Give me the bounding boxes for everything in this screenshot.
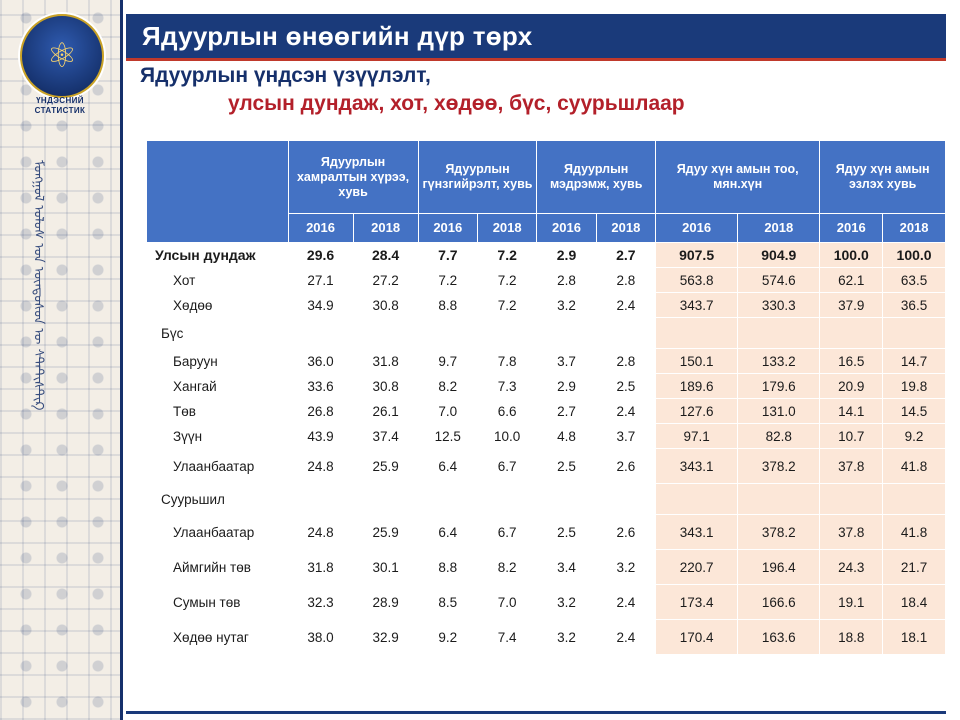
table-cell: 18.4 [883,585,946,620]
row-label: Төв [147,399,289,424]
poverty-table-wrap: Ядуурлын хамралтын хүрээ, хувь Ядуурлын … [146,140,946,655]
table-cell: 32.3 [288,585,353,620]
table-cell: 30.1 [353,550,418,585]
table-cell [537,318,596,349]
table-cell: 20.9 [820,374,883,399]
emblem-caption-line1: ҮНДЭСНИЙ [8,96,112,106]
table-cell: 131.0 [738,399,820,424]
table-cell [477,318,536,349]
table-cell: 37.9 [820,293,883,318]
table-cell: 7.0 [477,585,536,620]
table-cell: 32.9 [353,620,418,655]
table-cell: 19.8 [883,374,946,399]
year-share-2018: 2018 [883,214,946,243]
table-cell: 7.8 [477,349,536,374]
table-cell: 133.2 [738,349,820,374]
table-row: Хөдөө34.930.88.87.23.22.4343.7330.337.93… [147,293,946,318]
table-cell: 6.7 [477,449,536,484]
table-cell: 3.4 [537,550,596,585]
table-cell: 14.5 [883,399,946,424]
table-row: Сумын төв32.328.98.57.03.22.4173.4166.61… [147,585,946,620]
table-cell [656,318,738,349]
table-cell: 12.5 [418,424,477,449]
table-cell: 8.2 [418,374,477,399]
table-cell: 21.7 [883,550,946,585]
table-cell [596,484,655,515]
table-header-groups-row: Ядуурлын хамралтын хүрээ, хувь Ядуурлын … [147,141,946,214]
table-cell: 38.0 [288,620,353,655]
table-cell: 378.2 [738,515,820,550]
table-cell: 150.1 [656,349,738,374]
table-cell: 7.3 [477,374,536,399]
soyombo-icon: ⚛ [47,39,77,73]
emblem-caption: ҮНДЭСНИЙ СТАТИСТИК [8,96,112,116]
table-corner-header [147,141,289,243]
table-row: Улаанбаатар24.825.96.46.72.52.6343.1378.… [147,449,946,484]
row-label: Бүс [147,318,289,349]
table-cell: 170.4 [656,620,738,655]
column-group-poor-count: Ядуу хүн амын тоо, мян.хүн [656,141,820,214]
row-label: Хот [147,268,289,293]
table-cell: 8.5 [418,585,477,620]
year-share-2016: 2016 [820,214,883,243]
slide-subtitle: Ядуурлын үндсэн үзүүлэлт, улсын дундаж, … [140,62,930,119]
table-row: Аймгийн төв31.830.18.88.23.43.2220.7196.… [147,550,946,585]
table-cell: 27.1 [288,268,353,293]
table-cell: 24.8 [288,515,353,550]
table-cell: 28.9 [353,585,418,620]
table-cell: 18.8 [820,620,883,655]
table-cell: 82.8 [738,424,820,449]
row-label: Аймгийн төв [147,550,289,585]
table-cell: 7.2 [418,268,477,293]
table-cell: 24.8 [288,449,353,484]
table-cell: 2.6 [596,515,655,550]
row-label: Зүүн [147,424,289,449]
table-row: Төв26.826.17.06.62.72.4127.6131.014.114.… [147,399,946,424]
row-label: Улсын дундаж [147,243,289,268]
table-cell: 7.4 [477,620,536,655]
table-cell [883,318,946,349]
table-cell: 19.1 [820,585,883,620]
table-cell: 7.0 [418,399,477,424]
year-depth-2018: 2018 [477,214,536,243]
year-coverage-2016: 2016 [288,214,353,243]
table-cell: 2.8 [596,268,655,293]
table-cell: 31.8 [353,349,418,374]
table-cell: 100.0 [883,243,946,268]
left-ornament-band: ⚛ ҮНДЭСНИЙ СТАТИСТИК ᠮᠣᠩᠭᠤᠯ ᠤᠯᠤᠰ ᠤᠨ ᠦᠨᠳᠦ… [0,0,123,720]
table-cell: 63.5 [883,268,946,293]
table-cell: 6.7 [477,515,536,550]
year-count-2016: 2016 [656,214,738,243]
row-label: Улаанбаатар [147,515,289,550]
column-group-depth: Ядуурлын гүнзгийрэлт, хувь [418,141,537,214]
table-cell [353,484,418,515]
table-row: Улсын дундаж29.628.47.77.22.92.7907.5904… [147,243,946,268]
table-cell: 166.6 [738,585,820,620]
table-cell: 2.7 [596,243,655,268]
table-cell: 378.2 [738,449,820,484]
table-cell: 563.8 [656,268,738,293]
table-cell: 14.7 [883,349,946,374]
table-cell: 97.1 [656,424,738,449]
emblem-caption-line2: СТАТИСТИК [8,106,112,116]
page-title: Ядуурлын өнөөгийн дүр төрх [126,21,533,52]
row-label: Хангай [147,374,289,399]
table-cell: 904.9 [738,243,820,268]
table-cell: 30.8 [353,374,418,399]
table-cell: 3.7 [537,349,596,374]
row-label: Сумын төв [147,585,289,620]
table-cell: 3.2 [537,620,596,655]
table-cell: 6.4 [418,515,477,550]
table-cell: 7.2 [477,293,536,318]
table-cell: 127.6 [656,399,738,424]
table-cell: 2.8 [537,268,596,293]
table-cell: 7.2 [477,243,536,268]
table-cell: 18.1 [883,620,946,655]
table-cell: 62.1 [820,268,883,293]
table-cell [883,484,946,515]
table-cell: 33.6 [288,374,353,399]
table-row: Баруун36.031.89.77.83.72.8150.1133.216.5… [147,349,946,374]
table-cell: 3.2 [596,550,655,585]
table-cell: 9.2 [883,424,946,449]
table-cell: 36.5 [883,293,946,318]
column-group-poor-share: Ядуу хүн амын эзлэх хувь [820,141,946,214]
table-cell: 31.8 [288,550,353,585]
table-cell: 189.6 [656,374,738,399]
table-cell: 37.4 [353,424,418,449]
table-cell: 2.4 [596,585,655,620]
table-cell: 29.6 [288,243,353,268]
table-cell: 41.8 [883,515,946,550]
table-cell: 16.5 [820,349,883,374]
column-group-coverage: Ядуурлын хамралтын хүрээ, хувь [288,141,418,214]
row-label: Хөдөө [147,293,289,318]
table-cell: 24.3 [820,550,883,585]
table-cell [537,484,596,515]
slide-root: ⚛ ҮНДЭСНИЙ СТАТИСТИК ᠮᠣᠩᠭᠤᠯ ᠤᠯᠤᠰ ᠤᠨ ᠦᠨᠳᠦ… [0,0,960,720]
table-cell: 2.6 [596,449,655,484]
table-cell: 3.2 [537,293,596,318]
table-cell: 27.2 [353,268,418,293]
table-cell: 8.2 [477,550,536,585]
year-depth-2016: 2016 [418,214,477,243]
table-cell: 6.4 [418,449,477,484]
table-cell: 2.7 [537,399,596,424]
table-cell: 37.8 [820,515,883,550]
table-row: Бүс [147,318,946,349]
table-cell [353,318,418,349]
table-body: Улсын дундаж29.628.47.77.22.92.7907.5904… [147,243,946,655]
table-cell: 173.4 [656,585,738,620]
subtitle-line-2: улсын дундаж, хот, хөдөө, бүс, суурьшлаа… [140,90,930,118]
table-row: Зүүн43.937.412.510.04.83.797.182.810.79.… [147,424,946,449]
row-label: Улаанбаатар [147,449,289,484]
table-cell: 8.8 [418,550,477,585]
table-cell: 907.5 [656,243,738,268]
year-count-2018: 2018 [738,214,820,243]
table-row: Суурьшил [147,484,946,515]
table-cell: 41.8 [883,449,946,484]
table-cell: 8.8 [418,293,477,318]
poverty-indicators-table: Ядуурлын хамралтын хүрээ, хувь Ядуурлын … [146,140,946,655]
table-cell: 163.6 [738,620,820,655]
table-cell: 34.9 [288,293,353,318]
table-cell: 36.0 [288,349,353,374]
table-cell [418,318,477,349]
table-cell: 9.2 [418,620,477,655]
subtitle-line-1: Ядуурлын үндсэн үзүүлэлт, [140,62,930,90]
slide-header-bar: Ядуурлын өнөөгийн дүр төрх [126,14,946,61]
footer-rule [126,711,946,714]
table-cell: 43.9 [288,424,353,449]
table-cell: 330.3 [738,293,820,318]
table-cell: 100.0 [820,243,883,268]
table-cell: 4.8 [537,424,596,449]
table-cell: 2.4 [596,293,655,318]
table-cell: 7.2 [477,268,536,293]
table-cell: 26.1 [353,399,418,424]
table-cell: 2.4 [596,620,655,655]
table-cell: 28.4 [353,243,418,268]
table-cell: 6.6 [477,399,536,424]
table-cell: 2.8 [596,349,655,374]
mongolian-vertical-script: ᠮᠣᠩᠭᠤᠯ ᠤᠯᠤᠰ ᠤᠨ ᠦᠨᠳᠦᠰᠦᠨ ᠦ ᠰᠲ᠋ᠠᠲ᠋ᠢᠰᠲ᠋ᠢᠺ [30,160,90,680]
table-cell: 196.4 [738,550,820,585]
table-cell: 25.9 [353,449,418,484]
table-cell: 343.1 [656,449,738,484]
table-cell: 7.7 [418,243,477,268]
table-cell: 10.0 [477,424,536,449]
table-cell [288,484,353,515]
table-cell: 14.1 [820,399,883,424]
table-row: Хот27.127.27.27.22.82.8563.8574.662.163.… [147,268,946,293]
table-cell: 343.1 [656,515,738,550]
table-cell [820,484,883,515]
table-cell [656,484,738,515]
table-cell: 2.9 [537,243,596,268]
table-cell: 30.8 [353,293,418,318]
table-cell: 2.5 [537,449,596,484]
national-statistics-emblem: ⚛ [20,14,104,98]
table-cell [596,318,655,349]
year-severity-2016: 2016 [537,214,596,243]
table-cell [820,318,883,349]
table-cell: 574.6 [738,268,820,293]
table-cell [477,484,536,515]
table-cell [418,484,477,515]
row-label: Суурьшил [147,484,289,515]
table-head: Ядуурлын хамралтын хүрээ, хувь Ядуурлын … [147,141,946,243]
table-cell: 3.2 [537,585,596,620]
table-row: Улаанбаатар24.825.96.46.72.52.6343.1378.… [147,515,946,550]
row-label: Хөдөө нутаг [147,620,289,655]
table-cell: 343.7 [656,293,738,318]
table-cell: 9.7 [418,349,477,374]
table-cell: 25.9 [353,515,418,550]
table-row: Хангай33.630.88.27.32.92.5189.6179.620.9… [147,374,946,399]
table-cell [288,318,353,349]
table-cell: 2.5 [537,515,596,550]
table-cell: 2.5 [596,374,655,399]
table-cell [738,484,820,515]
table-row: Хөдөө нутаг38.032.99.27.43.22.4170.4163.… [147,620,946,655]
year-severity-2018: 2018 [596,214,655,243]
table-cell: 2.4 [596,399,655,424]
table-cell [738,318,820,349]
column-group-severity: Ядуурлын мэдрэмж, хувь [537,141,656,214]
year-coverage-2018: 2018 [353,214,418,243]
table-cell: 26.8 [288,399,353,424]
table-cell: 179.6 [738,374,820,399]
row-label: Баруун [147,349,289,374]
table-cell: 3.7 [596,424,655,449]
table-cell: 37.8 [820,449,883,484]
table-cell: 220.7 [656,550,738,585]
table-cell: 10.7 [820,424,883,449]
table-cell: 2.9 [537,374,596,399]
